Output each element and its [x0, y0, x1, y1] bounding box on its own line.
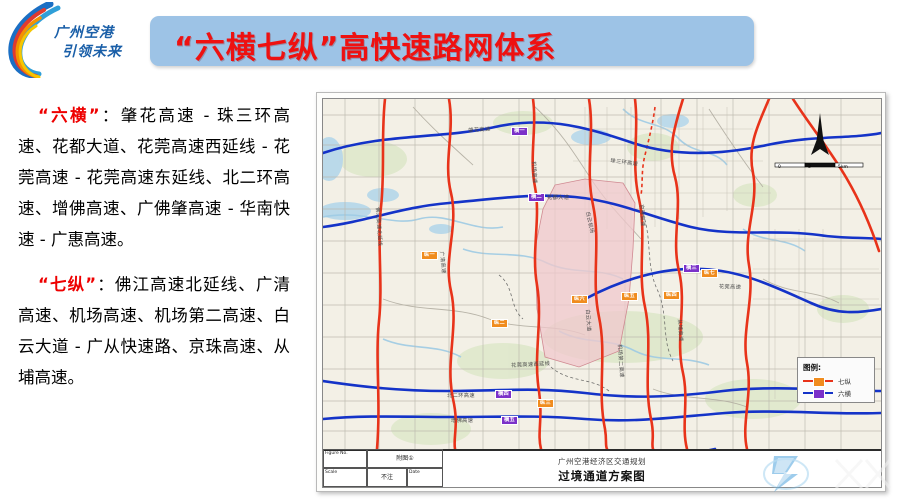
scale-tick-2: 5km [838, 165, 848, 170]
legend-label-liuheng: 六横 [838, 388, 851, 398]
keyword-liuheng: “六横” [38, 106, 100, 125]
map-figure: 肇花高速珠三环高速花都大道佛江高速北延线广清高速京珠高速机场高速白云大道花莞高速… [316, 92, 886, 492]
title-block-figure-value: 附图① [367, 449, 443, 468]
map-canvas: 肇花高速珠三环高速花都大道佛江高速北延线广清高速京珠高速机场高速白云大道花莞高速… [323, 99, 881, 449]
corridor-chip-横一: 横一 [511, 127, 528, 136]
title-block-scale-value: 不注 [367, 468, 407, 487]
brand-logo: 广州空港 引领未来 [6, 2, 146, 80]
scale-bar: 0 3 5km [778, 159, 864, 171]
legend-row-liuheng: 六横 [803, 388, 869, 398]
title-block-figure-label: Figure No. [323, 449, 367, 468]
logo-wordmark: 广州空港 引领未来 [54, 24, 146, 62]
corridor-chip-横五: 横五 [501, 416, 518, 425]
corridor-chip-纵四: 纵四 [663, 291, 680, 300]
corridor-chip-纵七: 纵七 [701, 269, 718, 278]
corridor-chip-纵一: 纵一 [421, 251, 438, 260]
separator-2: ： [96, 275, 115, 294]
title-block-date-label: Date [407, 468, 443, 487]
map-legend: 图例: 七纵 六横 [797, 357, 875, 403]
paragraph-liuheng-body: 肇花高速 - 珠三环高速、花都大道、花莞高速西延线 - 花莞高速 - 花莞高速东… [18, 106, 290, 249]
separator-1: ： [100, 106, 121, 125]
legend-swatch-liuheng [803, 389, 833, 397]
map-title-block: Figure No. 附图① Scale 不注 Date [323, 449, 443, 487]
road-label: 白云大道 [584, 309, 593, 332]
corridor-chip-纵六: 纵六 [571, 295, 588, 304]
road-label: 北二环高速 [447, 392, 475, 399]
paragraph-liuheng: “六横”：肇花高速 - 珠三环高速、花都大道、花莞高速西延线 - 花莞高速 - … [18, 100, 290, 255]
scale-tick-0: 0 [778, 165, 781, 170]
paragraph-qizong: “七纵”：佛江高速北延线、广清高速、机场高速、机场第二高速、白云大道 - 广从快… [18, 269, 290, 393]
road-label: 京珠高速 [638, 204, 647, 227]
corridor-chip-纵二: 纵二 [491, 319, 508, 328]
page-title: “六横七纵”高快速路网体系 [174, 23, 556, 67]
legend-title: 图例: [803, 362, 869, 373]
corridor-chip-纵五: 纵五 [621, 292, 638, 301]
legend-row-qizong: 七纵 [803, 376, 869, 386]
slide-root: 广州空港 引领未来 “六横七纵”高快速路网体系 “六横”：肇花高速 - 珠三环高… [0, 0, 900, 500]
legend-label-qizong: 七纵 [838, 376, 851, 386]
road-label: 花莞高速 [719, 283, 742, 291]
legend-swatch-qizong [803, 377, 833, 385]
scale-tick-1: 3 [808, 165, 811, 170]
corridor-chip-纵三: 纵三 [537, 399, 554, 408]
left-text-column: “六横”：肇花高速 - 珠三环高速、花都大道、花莞高速西延线 - 花莞高速 - … [18, 100, 290, 407]
corridor-chip-横二: 横二 [528, 193, 545, 202]
map-frame: 肇花高速珠三环高速花都大道佛江高速北延线广清高速京珠高速机场高速白云大道花莞高速… [322, 98, 882, 488]
slide-header: 广州空港 引领未来 “六横七纵”高快速路网体系 [0, 0, 900, 84]
title-banner: “六横七纵”高快速路网体系 [150, 16, 754, 66]
road-label: 机场高速 [530, 161, 539, 184]
road-label: 增佛高速 [451, 417, 473, 424]
road-label: 花都大道 [547, 194, 569, 201]
logo-line-1: 广州空港 [54, 24, 146, 43]
corridor-chip-横四: 横四 [495, 390, 512, 399]
logo-line-2: 引领未来 [54, 43, 146, 62]
title-block-scale-label: Scale [323, 468, 367, 487]
corridor-chip-横三: 横三 [683, 264, 700, 273]
road-label: 从埔高速 [676, 319, 685, 342]
keyword-qizong: “七纵” [38, 275, 96, 294]
